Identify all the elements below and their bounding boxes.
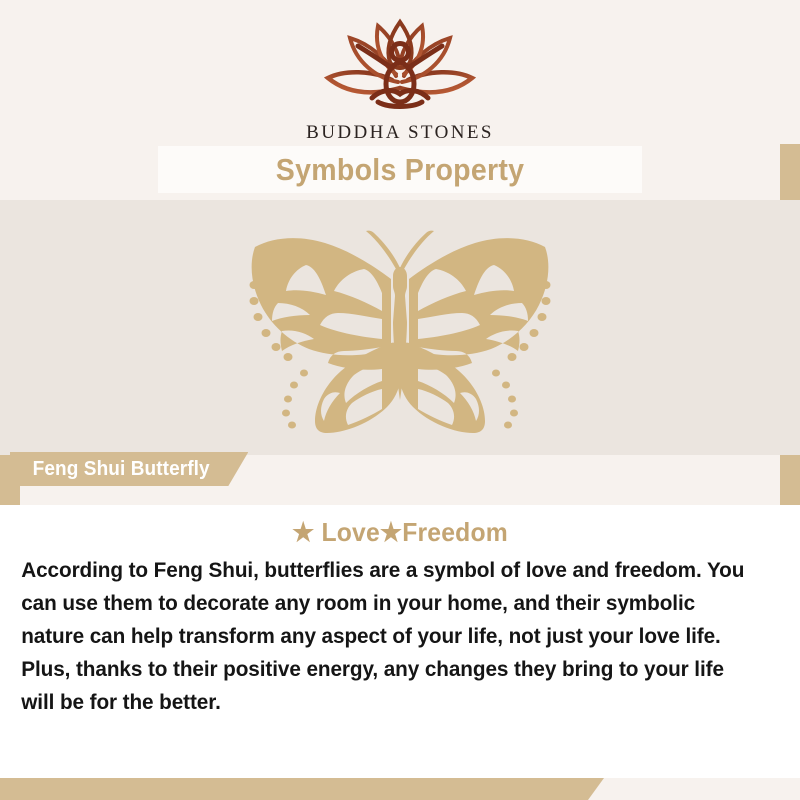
section-label-banner: Feng Shui Butterfly — [10, 452, 248, 486]
butterfly-icon — [230, 223, 570, 433]
promo-page: BUDDHA STONES Symbols Property — [0, 0, 800, 800]
body-paragraph: According to Feng Shui, butterflies are … — [0, 554, 772, 719]
brand-name: BUDDHA STONES — [285, 122, 515, 144]
decor-band-bottom — [0, 778, 604, 800]
subheading: ★ Love★Freedom — [20, 517, 780, 548]
header: BUDDHA STONES — [0, 0, 800, 144]
symbol-showcase — [0, 200, 800, 455]
description-panel: ★ Love★Freedom According to Feng Shui, b… — [0, 505, 800, 778]
section-label-text: Feng Shui Butterfly — [33, 458, 210, 481]
lotus-meditation-icon — [306, 16, 494, 120]
brand-logo: BUDDHA STONES — [285, 16, 515, 144]
page-title: Symbols Property — [276, 152, 525, 188]
page-title-bar: Symbols Property — [158, 146, 642, 193]
